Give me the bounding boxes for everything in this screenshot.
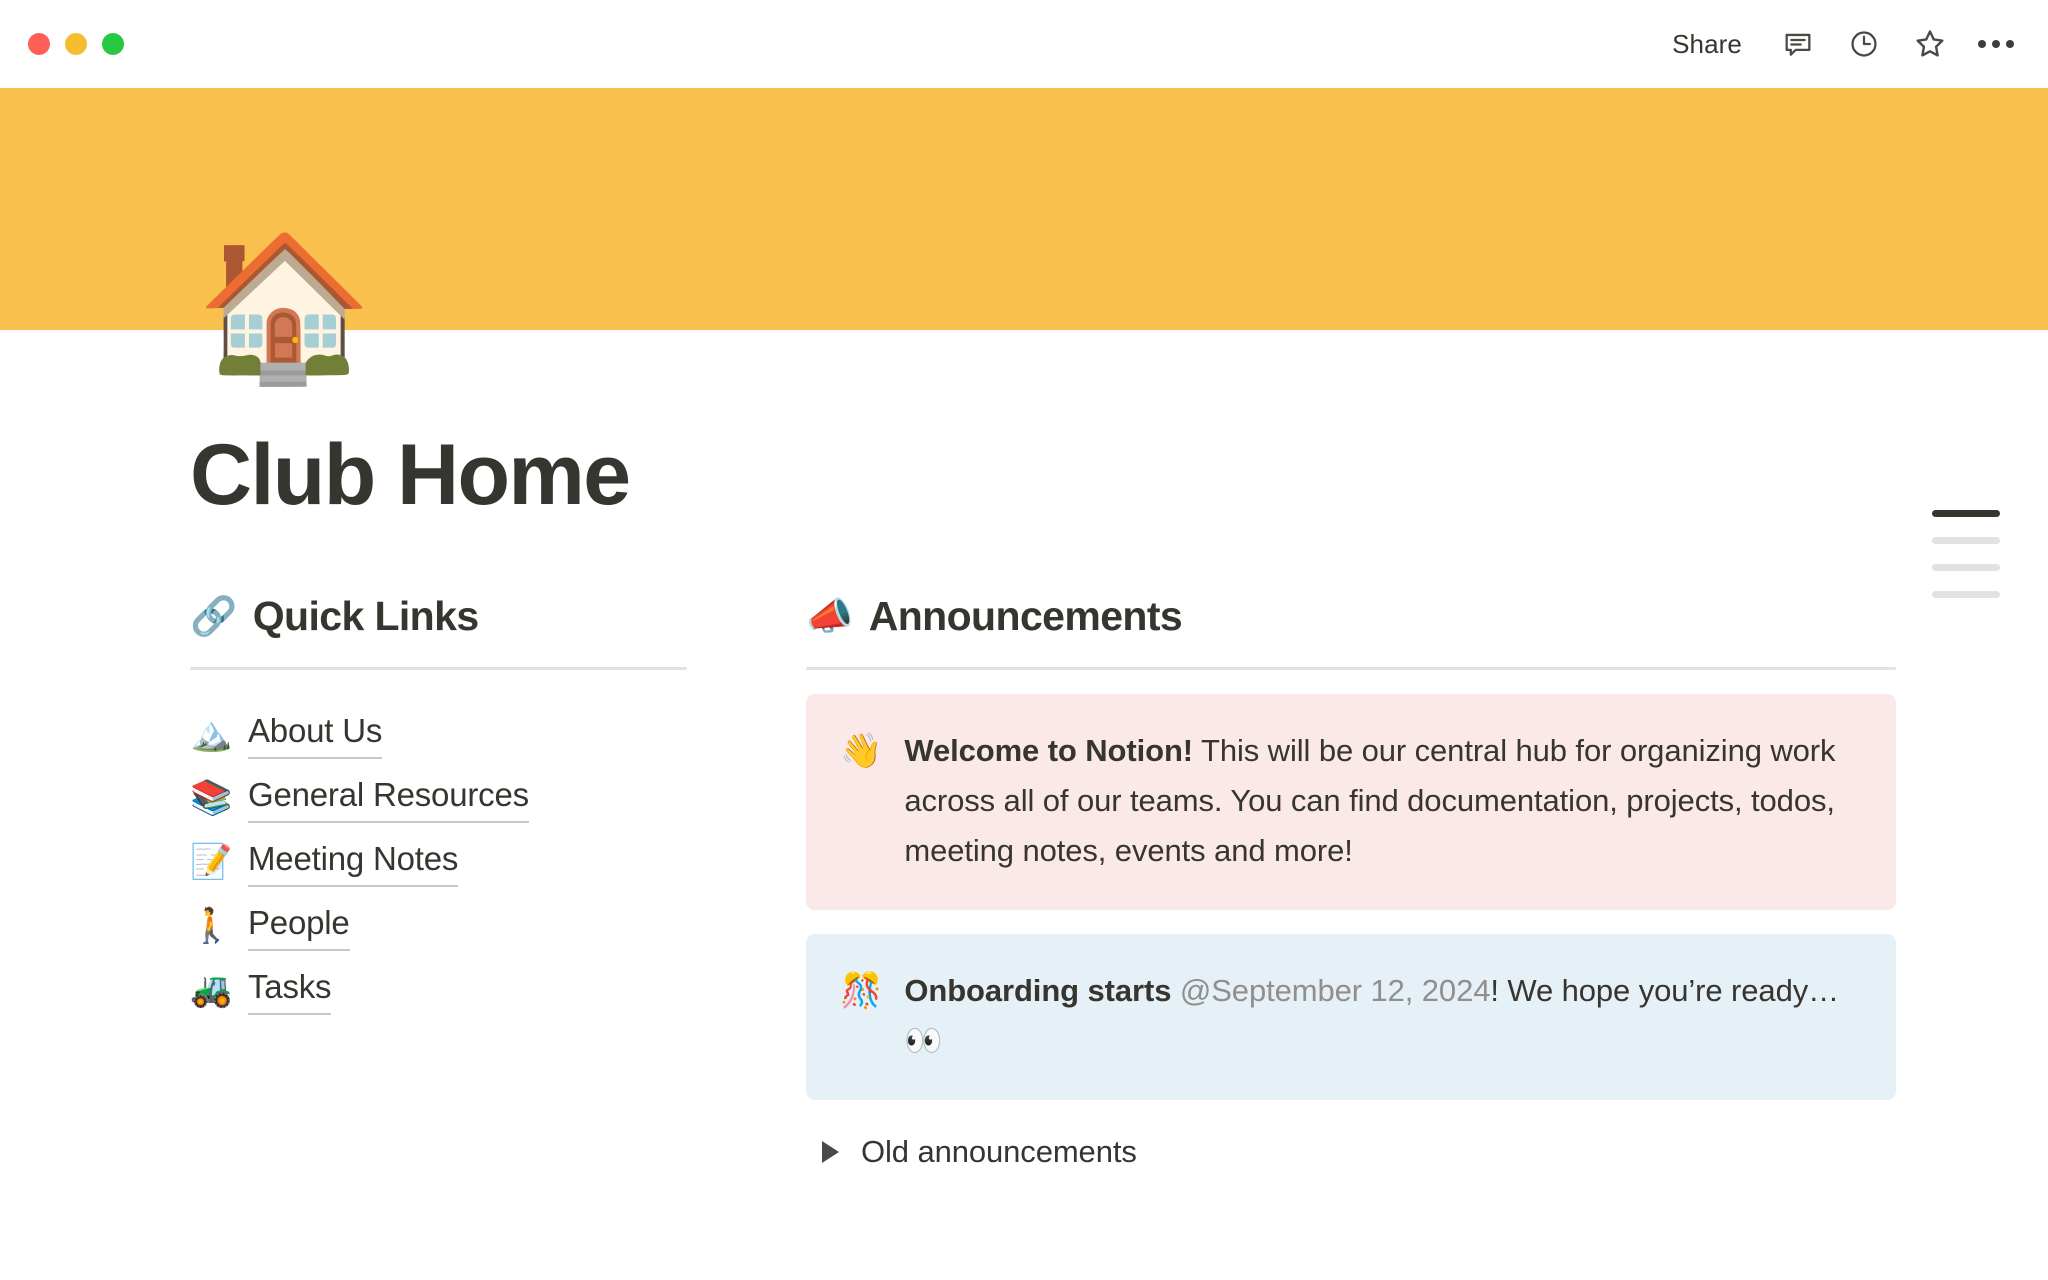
quick-link-people[interactable]: 🚶 People (190, 894, 770, 958)
outline-bar[interactable] (1932, 591, 2000, 598)
column-announcements: 📣 Announcements 👋 Welcome to Notion! Thi… (806, 592, 1896, 1170)
quick-link-label[interactable]: Tasks (248, 966, 331, 1014)
tractor-icon: 🚜 (190, 973, 232, 1007)
quick-link-about-us[interactable]: 🏔️ About Us (190, 702, 770, 766)
more-dot (1992, 40, 2000, 48)
more-dots (1978, 40, 2014, 48)
callout-welcome-lead: Welcome to Notion! (904, 733, 1193, 768)
two-column-layout: 🔗 Quick Links 🏔️ About Us 📚 General Reso… (190, 592, 1856, 1170)
announcements-heading-label: Announcements (869, 592, 1182, 641)
quick-link-label[interactable]: People (248, 902, 350, 950)
announcements-divider (806, 667, 1896, 670)
comment-icon[interactable] (1780, 26, 1816, 62)
quick-links-heading-label: Quick Links (253, 592, 479, 641)
more-dot (1978, 40, 1986, 48)
more-icon[interactable] (1978, 26, 2014, 62)
outline-bar[interactable] (1932, 537, 2000, 544)
quick-link-label[interactable]: General Resources (248, 774, 529, 822)
link-icon: 🔗 (190, 598, 237, 636)
confetti-ball-icon: 🎊 (840, 966, 882, 1016)
outline-bar[interactable] (1932, 564, 2000, 571)
star-icon[interactable] (1912, 26, 1948, 62)
date-mention[interactable]: @September 12, 2024 (1180, 973, 1491, 1008)
toggle-old-announcements[interactable]: Old announcements (822, 1134, 1896, 1170)
waving-hand-icon: 👋 (840, 726, 882, 776)
close-window-button[interactable] (28, 33, 50, 55)
books-icon: 📚 (190, 781, 232, 815)
outline-bar-active[interactable] (1932, 510, 2000, 517)
more-dot (2006, 40, 2014, 48)
callout-welcome[interactable]: 👋 Welcome to Notion! This will be our ce… (806, 694, 1896, 910)
chevron-right-icon[interactable] (822, 1141, 839, 1163)
quick-link-label[interactable]: Meeting Notes (248, 838, 458, 886)
page-title[interactable]: Club Home (190, 330, 1856, 520)
callout-onboarding[interactable]: 🎊 Onboarding starts @September 12, 2024!… (806, 934, 1896, 1100)
quick-links-heading: 🔗 Quick Links (190, 592, 770, 641)
quick-link-tasks[interactable]: 🚜 Tasks (190, 958, 770, 1022)
megaphone-icon: 📣 (806, 598, 853, 636)
quick-link-label[interactable]: About Us (248, 710, 382, 758)
quick-link-general-resources[interactable]: 📚 General Resources (190, 766, 770, 830)
window-titlebar: Share (0, 0, 2048, 88)
callout-onboarding-text: Onboarding starts @September 12, 2024! W… (904, 966, 1862, 1066)
memo-icon: 📝 (190, 845, 232, 879)
mountain-icon: 🏔️ (190, 717, 232, 751)
quick-links-divider (190, 667, 687, 670)
column-quick-links: 🔗 Quick Links 🏔️ About Us 📚 General Reso… (190, 592, 770, 1022)
minimize-window-button[interactable] (65, 33, 87, 55)
traffic-lights (28, 33, 124, 55)
walking-person-icon: 🚶 (190, 909, 232, 943)
page-body: Club Home 🔗 Quick Links 🏔️ About Us 📚 (0, 330, 2048, 1170)
share-button[interactable]: Share (1664, 24, 1750, 65)
quick-link-meeting-notes[interactable]: 📝 Meeting Notes (190, 830, 770, 894)
outline-rail (1932, 510, 2000, 598)
toggle-old-announcements-label[interactable]: Old announcements (861, 1134, 1137, 1170)
quick-links-list: 🏔️ About Us 📚 General Resources 📝 Meetin… (190, 702, 770, 1022)
callout-onboarding-lead: Onboarding starts (904, 973, 1171, 1008)
topbar-actions: Share (1664, 24, 2014, 65)
callout-welcome-text: Welcome to Notion! This will be our cent… (904, 726, 1862, 876)
announcements-heading: 📣 Announcements (806, 592, 1896, 641)
clock-icon[interactable] (1846, 26, 1882, 62)
maximize-window-button[interactable] (102, 33, 124, 55)
